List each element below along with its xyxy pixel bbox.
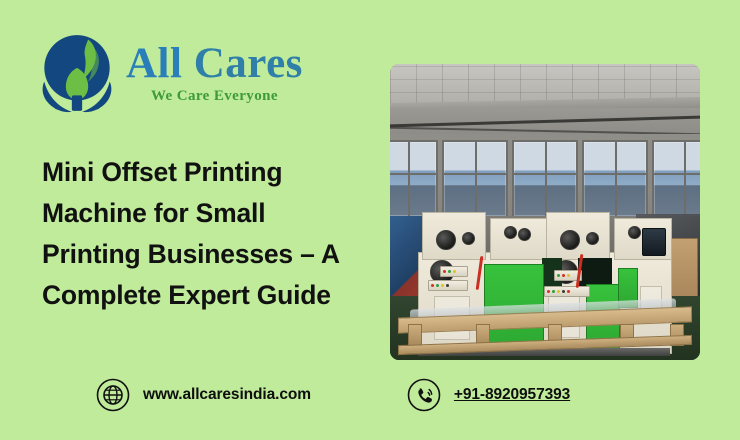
brand-name: All Cares: [126, 42, 303, 86]
pallet-leg: [408, 324, 422, 346]
brand-name-part1: All: [126, 40, 182, 87]
contact-bar: www.allcaresindia.com +91-8920957393: [96, 378, 570, 412]
promo-banner: All Cares We Care Everyone Mini Offset P…: [0, 0, 740, 440]
headline-line-4: Complete Expert Guide: [42, 280, 331, 310]
control-panel: [544, 286, 590, 297]
wooden-pallet: [398, 304, 690, 348]
brand-tagline: We Care Everyone: [151, 88, 278, 105]
window: [442, 140, 508, 218]
roller-drum: [504, 226, 517, 239]
website-contact[interactable]: www.allcaresindia.com: [96, 378, 311, 412]
window: [390, 140, 438, 218]
product-photo: [390, 64, 700, 360]
window: [512, 140, 578, 218]
window: [582, 140, 648, 218]
headline-line-3: Printing Businesses – A: [42, 239, 340, 269]
globe-tree-hands-care-logo-icon: [34, 28, 120, 118]
indicator-lights: [440, 266, 468, 277]
roller-drum: [628, 226, 641, 239]
factory-scene: [390, 64, 700, 360]
roller-drum: [518, 228, 531, 241]
headline-line-1: Mini Offset Printing: [42, 157, 282, 187]
window: [652, 140, 700, 218]
phone-icon: [407, 378, 441, 412]
phone-contact[interactable]: +91-8920957393: [407, 378, 570, 412]
window-band: [390, 134, 700, 220]
headline-line-2: Machine for Small: [42, 198, 265, 228]
machine-shadow-gap: [578, 258, 612, 286]
globe-icon: [96, 378, 130, 412]
roller-drum: [560, 230, 580, 250]
brand-name-part2: Cares: [194, 40, 303, 87]
phone-number: +91-8920957393: [454, 386, 570, 404]
roller-drum: [436, 230, 456, 250]
roller-drum: [462, 232, 475, 245]
control-console-screen: [642, 228, 666, 256]
control-panel: [428, 280, 468, 291]
brand-logo-block: All Cares We Care Everyone: [34, 28, 303, 118]
website-url: www.allcaresindia.com: [143, 386, 311, 404]
page-title: Mini Offset Printing Machine for Small P…: [42, 152, 372, 316]
offset-printing-machine: [418, 212, 670, 314]
roller-drum: [586, 232, 599, 245]
